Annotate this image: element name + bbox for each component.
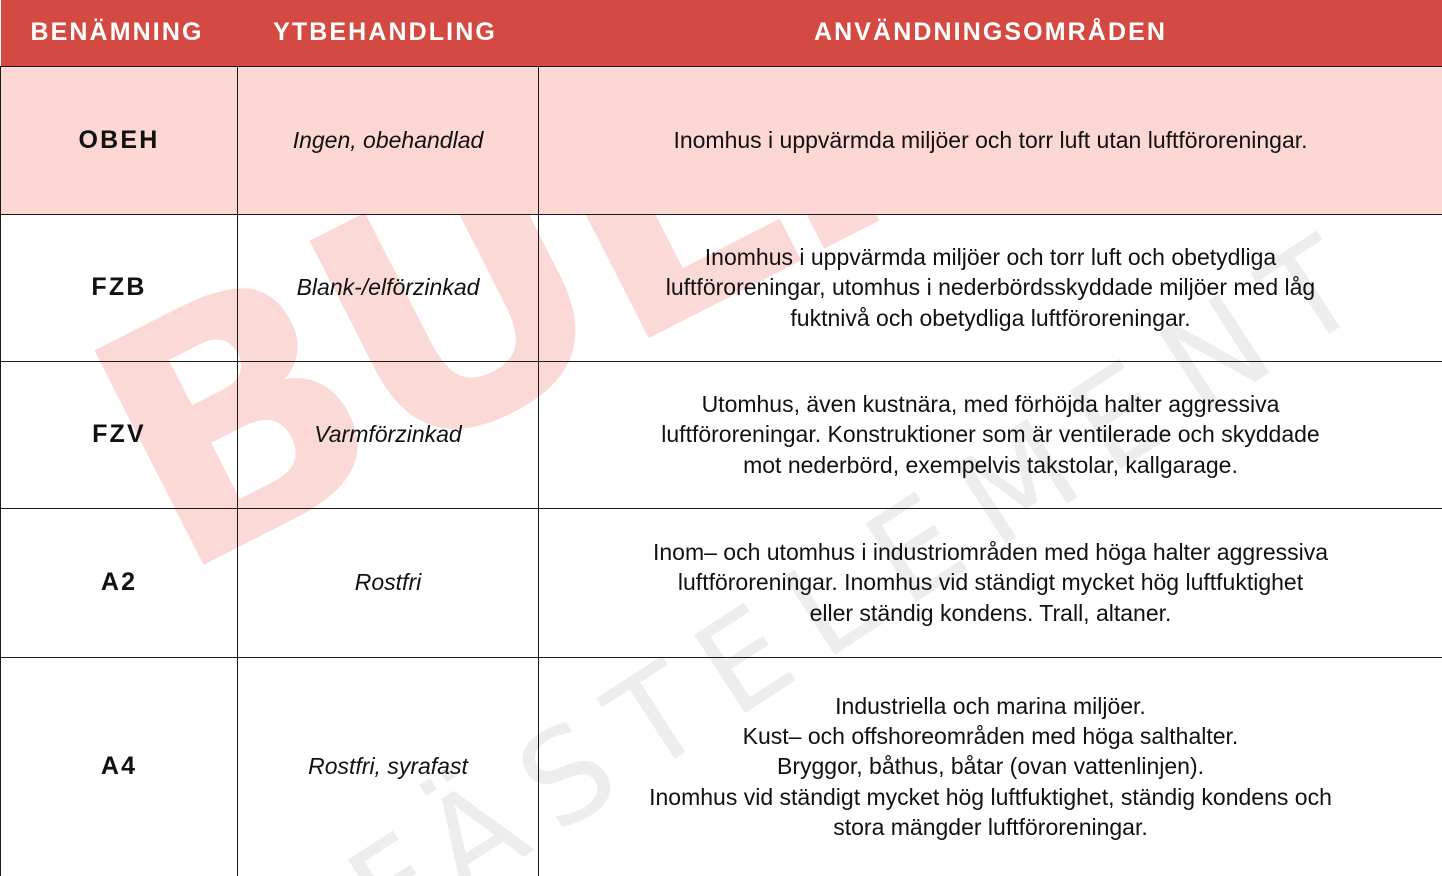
cell-applications: Inomhus i uppvärmda miljöer och torr luf… bbox=[539, 214, 1442, 361]
cell-surface-treatment: Rostfri bbox=[238, 508, 539, 657]
application-line: Inomhus i uppvärmda miljöer och torr luf… bbox=[557, 242, 1424, 272]
application-line: luftföroreningar. Konstruktioner som är … bbox=[557, 419, 1424, 449]
table-row: OBEH Ingen, obehandlad Inomhus i uppvärm… bbox=[1, 66, 1442, 214]
cell-surface-treatment: Ingen, obehandlad bbox=[238, 66, 539, 214]
application-line: Industriella och marina miljöer. bbox=[557, 691, 1424, 721]
cell-applications: Industriella och marina miljöer. Kust– o… bbox=[539, 657, 1442, 876]
cell-designation: A4 bbox=[1, 657, 238, 876]
application-line: Utomhus, även kustnära, med förhöjda hal… bbox=[557, 389, 1424, 419]
application-line: Kust– och offshoreområden med höga salth… bbox=[557, 721, 1424, 751]
cell-designation: FZB bbox=[1, 214, 238, 361]
column-header-ytbehandling: YTBEHANDLING bbox=[238, 0, 539, 66]
application-line: Inomhus i uppvärmda miljöer och torr luf… bbox=[557, 125, 1424, 155]
application-line: Inom– och utomhus i industriområden med … bbox=[557, 537, 1424, 567]
table-body: OBEH Ingen, obehandlad Inomhus i uppvärm… bbox=[1, 66, 1442, 876]
application-line: Bryggor, båthus, båtar (ovan vattenlinje… bbox=[557, 751, 1424, 781]
table-header: BENÄMNING YTBEHANDLING ANVÄNDNINGSOMRÅDE… bbox=[1, 0, 1442, 66]
column-header-anvandningsomraden: ANVÄNDNINGSOMRÅDEN bbox=[539, 0, 1442, 66]
application-line: fuktnivå och obetydliga luftföroreningar… bbox=[557, 303, 1424, 333]
application-line: eller ständig kondens. Trall, altaner. bbox=[557, 598, 1424, 628]
table-row: A4 Rostfri, syrafast Industriella och ma… bbox=[1, 657, 1442, 876]
cell-surface-treatment: Rostfri, syrafast bbox=[238, 657, 539, 876]
application-line: stora mängder luftföroreningar. bbox=[557, 812, 1424, 842]
surface-treatment-table-page: BULTAB FÄSTELEMENT BENÄMNING YTBEHANDLIN… bbox=[0, 0, 1442, 876]
application-line: luftföroreningar. Inomhus vid ständigt m… bbox=[557, 567, 1424, 597]
application-line: luftföroreningar, utomhus i nederbördssk… bbox=[557, 272, 1424, 302]
cell-applications: Inom– och utomhus i industriområden med … bbox=[539, 508, 1442, 657]
cell-applications: Utomhus, även kustnära, med förhöjda hal… bbox=[539, 361, 1442, 508]
table-row: A2 Rostfri Inom– och utomhus i industrio… bbox=[1, 508, 1442, 657]
cell-surface-treatment: Varmförzinkad bbox=[238, 361, 539, 508]
cell-applications: Inomhus i uppvärmda miljöer och torr luf… bbox=[539, 66, 1442, 214]
table-row: FZV Varmförzinkad Utomhus, även kustnära… bbox=[1, 361, 1442, 508]
column-header-benamning: BENÄMNING bbox=[1, 0, 238, 66]
application-line: Inomhus vid ständigt mycket hög luftfukt… bbox=[557, 782, 1424, 812]
cell-designation: FZV bbox=[1, 361, 238, 508]
surface-treatment-table: BENÄMNING YTBEHANDLING ANVÄNDNINGSOMRÅDE… bbox=[0, 0, 1442, 876]
table-row: FZB Blank-/elförzinkad Inomhus i uppvärm… bbox=[1, 214, 1442, 361]
cell-surface-treatment: Blank-/elförzinkad bbox=[238, 214, 539, 361]
table-header-row: BENÄMNING YTBEHANDLING ANVÄNDNINGSOMRÅDE… bbox=[1, 0, 1442, 66]
cell-designation: A2 bbox=[1, 508, 238, 657]
cell-designation: OBEH bbox=[1, 66, 238, 214]
application-line: mot nederbörd, exempelvis takstolar, kal… bbox=[557, 450, 1424, 480]
